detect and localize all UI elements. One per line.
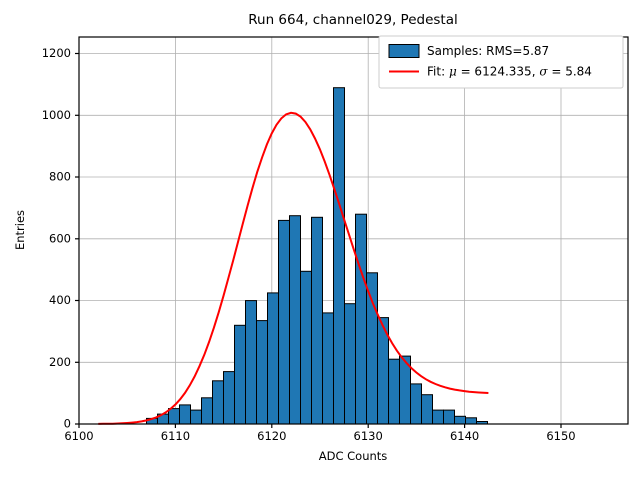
- legend-fit-prefix: Fit:: [427, 64, 449, 78]
- histogram-bar: [356, 214, 367, 424]
- histogram-bar: [334, 88, 345, 424]
- legend-fit-sigma-value: = 5.84: [548, 64, 592, 78]
- histogram-bar: [257, 321, 268, 424]
- legend-swatch-samples: [389, 45, 419, 58]
- histogram-bar: [312, 217, 323, 424]
- histogram-chart: Run 664, channel029, Pedestal: [0, 0, 640, 480]
- y-tick-label: 600: [49, 231, 71, 245]
- histogram-bar: [290, 216, 301, 424]
- histogram-bar: [455, 416, 466, 424]
- histogram-bar: [169, 409, 180, 424]
- histogram-bar: [235, 325, 246, 424]
- histogram-bar: [389, 359, 400, 424]
- histogram-bar: [268, 293, 279, 424]
- histogram-bar: [422, 395, 433, 424]
- legend-label-samples: Samples: RMS=5.87: [427, 44, 549, 58]
- x-axis-label: ADC Counts: [319, 449, 388, 463]
- histogram-bar: [433, 410, 444, 424]
- x-tick-label: 6140: [450, 429, 479, 443]
- x-tick-label: 6130: [354, 429, 383, 443]
- histogram-bar: [367, 273, 378, 424]
- y-tick-label: 200: [49, 355, 71, 369]
- histogram-bar: [466, 418, 477, 424]
- legend-label-fit: Fit: μ = 6124.335, σ = 5.84: [427, 64, 592, 78]
- x-tick-label: 6120: [257, 429, 286, 443]
- histogram-bar: [411, 384, 422, 424]
- legend-fit-mu-symbol: μ: [449, 64, 457, 78]
- histogram-bar: [180, 405, 191, 424]
- histogram-bar: [323, 313, 334, 424]
- y-tick-label: 1000: [42, 108, 71, 122]
- legend-fit-mu-value: = 6124.335,: [457, 64, 540, 78]
- histogram-bar: [246, 301, 257, 424]
- x-tick-label: 6150: [546, 429, 575, 443]
- histogram-bar: [224, 372, 235, 424]
- histogram-bar: [202, 398, 213, 424]
- chart-title: Run 664, channel029, Pedestal: [248, 12, 458, 28]
- chart-legend: Samples: RMS=5.87 Fit: μ = 6124.335, σ =…: [379, 36, 623, 88]
- y-tick-label: 800: [49, 170, 71, 184]
- histogram-bar: [301, 271, 312, 424]
- y-tick-label: 1200: [42, 46, 71, 60]
- histogram-bar: [191, 410, 202, 424]
- y-axis-label: Entries: [13, 210, 27, 250]
- figure-canvas: Run 664, channel029, Pedestal: [0, 0, 640, 480]
- histogram-bar: [345, 304, 356, 424]
- y-tick-label: 0: [64, 417, 71, 431]
- x-tick-label: 6110: [161, 429, 190, 443]
- x-tick-label: 6100: [64, 429, 93, 443]
- y-tick-label: 400: [49, 293, 71, 307]
- histogram-bar: [444, 410, 455, 424]
- histogram-bar: [213, 381, 224, 424]
- histogram-bar: [279, 220, 290, 424]
